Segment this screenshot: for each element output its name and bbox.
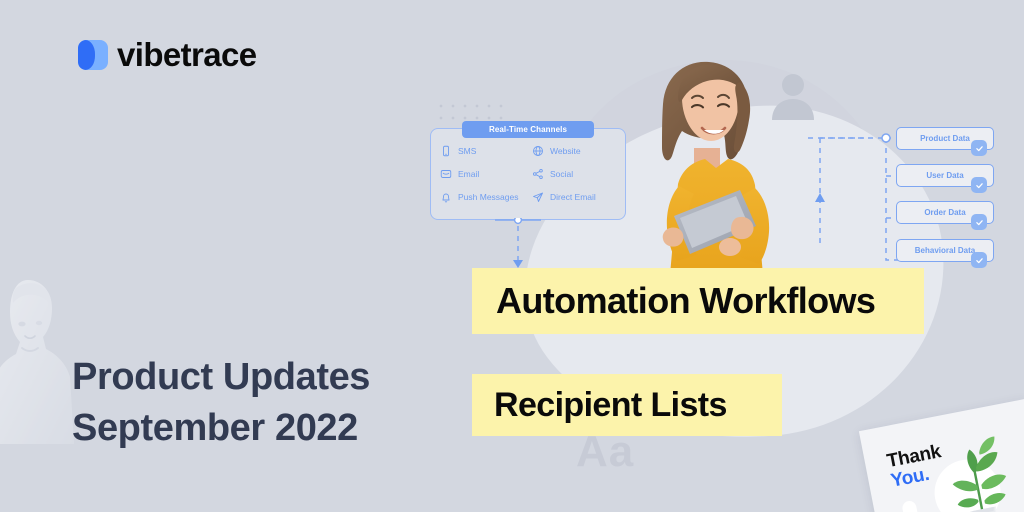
feature-banner-recipient-lists: Recipient Lists: [472, 374, 782, 436]
phone-icon: [440, 145, 452, 157]
channels-list: SMS Website Email Social Push Messa: [440, 145, 620, 203]
feature-banner-automation-workflows: Automation Workflows: [472, 268, 924, 334]
globe-icon: [532, 145, 544, 157]
feature-banner-label: Automation Workflows: [496, 280, 875, 322]
page-title-line2: September 2022: [72, 403, 370, 454]
paper-plane-icon: [532, 191, 544, 203]
data-card-label: Order Data: [924, 208, 965, 217]
classical-statue-bust-icon: [0, 272, 74, 444]
channel-item-social[interactable]: Social: [532, 168, 620, 180]
aa-watermark: Aa: [576, 430, 634, 474]
channel-label: Direct Email: [550, 192, 596, 202]
brand-logo[interactable]: vibetrace: [78, 36, 257, 74]
flow-connector-down: [495, 218, 541, 272]
share-network-icon: [532, 168, 544, 180]
channel-item-push-messages[interactable]: Push Messages: [440, 191, 532, 203]
envelope-icon: [440, 168, 452, 180]
bell-icon: [440, 191, 452, 203]
channel-label: Push Messages: [458, 192, 518, 202]
channel-label: Social: [550, 169, 573, 179]
channel-item-email[interactable]: Email: [440, 168, 532, 180]
data-card-check-badge-behavioral-data: [971, 252, 987, 268]
check-icon: [975, 218, 984, 227]
person-silhouette-icon: [768, 70, 818, 120]
check-icon: [975, 144, 984, 153]
data-card-label: Behavioral Data: [915, 246, 975, 255]
vibetrace-logo-mark: [78, 40, 108, 70]
data-card-check-badge-user-data: [971, 177, 987, 193]
channel-item-website[interactable]: Website: [532, 145, 620, 157]
channel-item-sms[interactable]: SMS: [440, 145, 532, 157]
channel-label: Website: [550, 146, 581, 156]
check-icon: [975, 181, 984, 190]
real-time-channels-badge: Real-Time Channels: [462, 121, 594, 138]
data-card-label: User Data: [926, 171, 963, 180]
monstera-plant-icon: [921, 409, 1024, 512]
feature-banner-label: Recipient Lists: [494, 386, 727, 425]
slide-canvas: Aa vibetrace Product Updates September 2…: [0, 0, 1024, 512]
page-title-line1: Product Updates: [72, 352, 370, 403]
data-card-check-badge-order-data: [971, 214, 987, 230]
data-card-check-badge-product-data: [971, 140, 987, 156]
brand-name: vibetrace: [117, 36, 257, 74]
thank-you-card-pill-decor: [901, 500, 920, 512]
channel-item-direct-email[interactable]: Direct Email: [532, 191, 620, 203]
channel-label: SMS: [458, 146, 476, 156]
thank-you-card: Thank You.: [859, 399, 1024, 512]
channel-label: Email: [458, 169, 479, 179]
check-icon: [975, 256, 984, 265]
data-card-label: Product Data: [920, 134, 970, 143]
page-title: Product Updates September 2022: [72, 352, 370, 453]
